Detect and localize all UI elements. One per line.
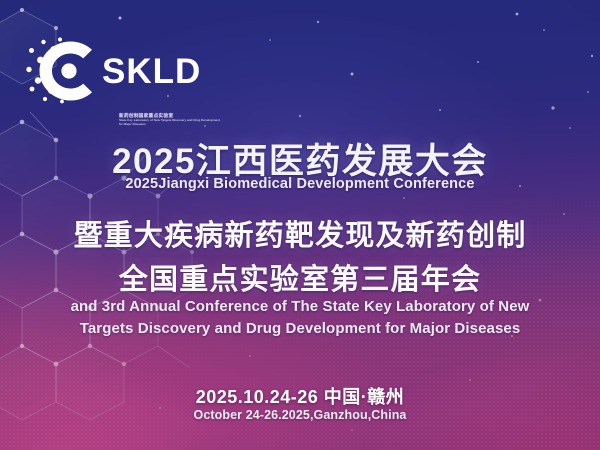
subtitle-cn-line-1: 暨重大疾病新药靶发现及新药创制 [0, 212, 600, 254]
main-title-en: 2025Jiangxi Biomedical Development Confe… [0, 176, 600, 192]
subtitle-en-line-1: and 3rd Annual Conference of The State K… [0, 298, 600, 315]
subtitle-cn-line-2: 全国重点实验室第三届年会 [0, 256, 600, 298]
subtitle-en-line-2: Targets Discovery and Drug Development f… [0, 320, 600, 337]
date-location-cn: 2025.10.24-26 中国·赣州 [0, 383, 600, 409]
poster-content: 2025江西医药发展大会 2025Jiangxi Biomedical Deve… [0, 0, 600, 450]
conference-poster: SKLD 新药创制国家重点实验室 State Key Laboratory of… [0, 0, 600, 450]
date-location-en: October 24-26.2025,Ganzhou,China [0, 408, 600, 422]
